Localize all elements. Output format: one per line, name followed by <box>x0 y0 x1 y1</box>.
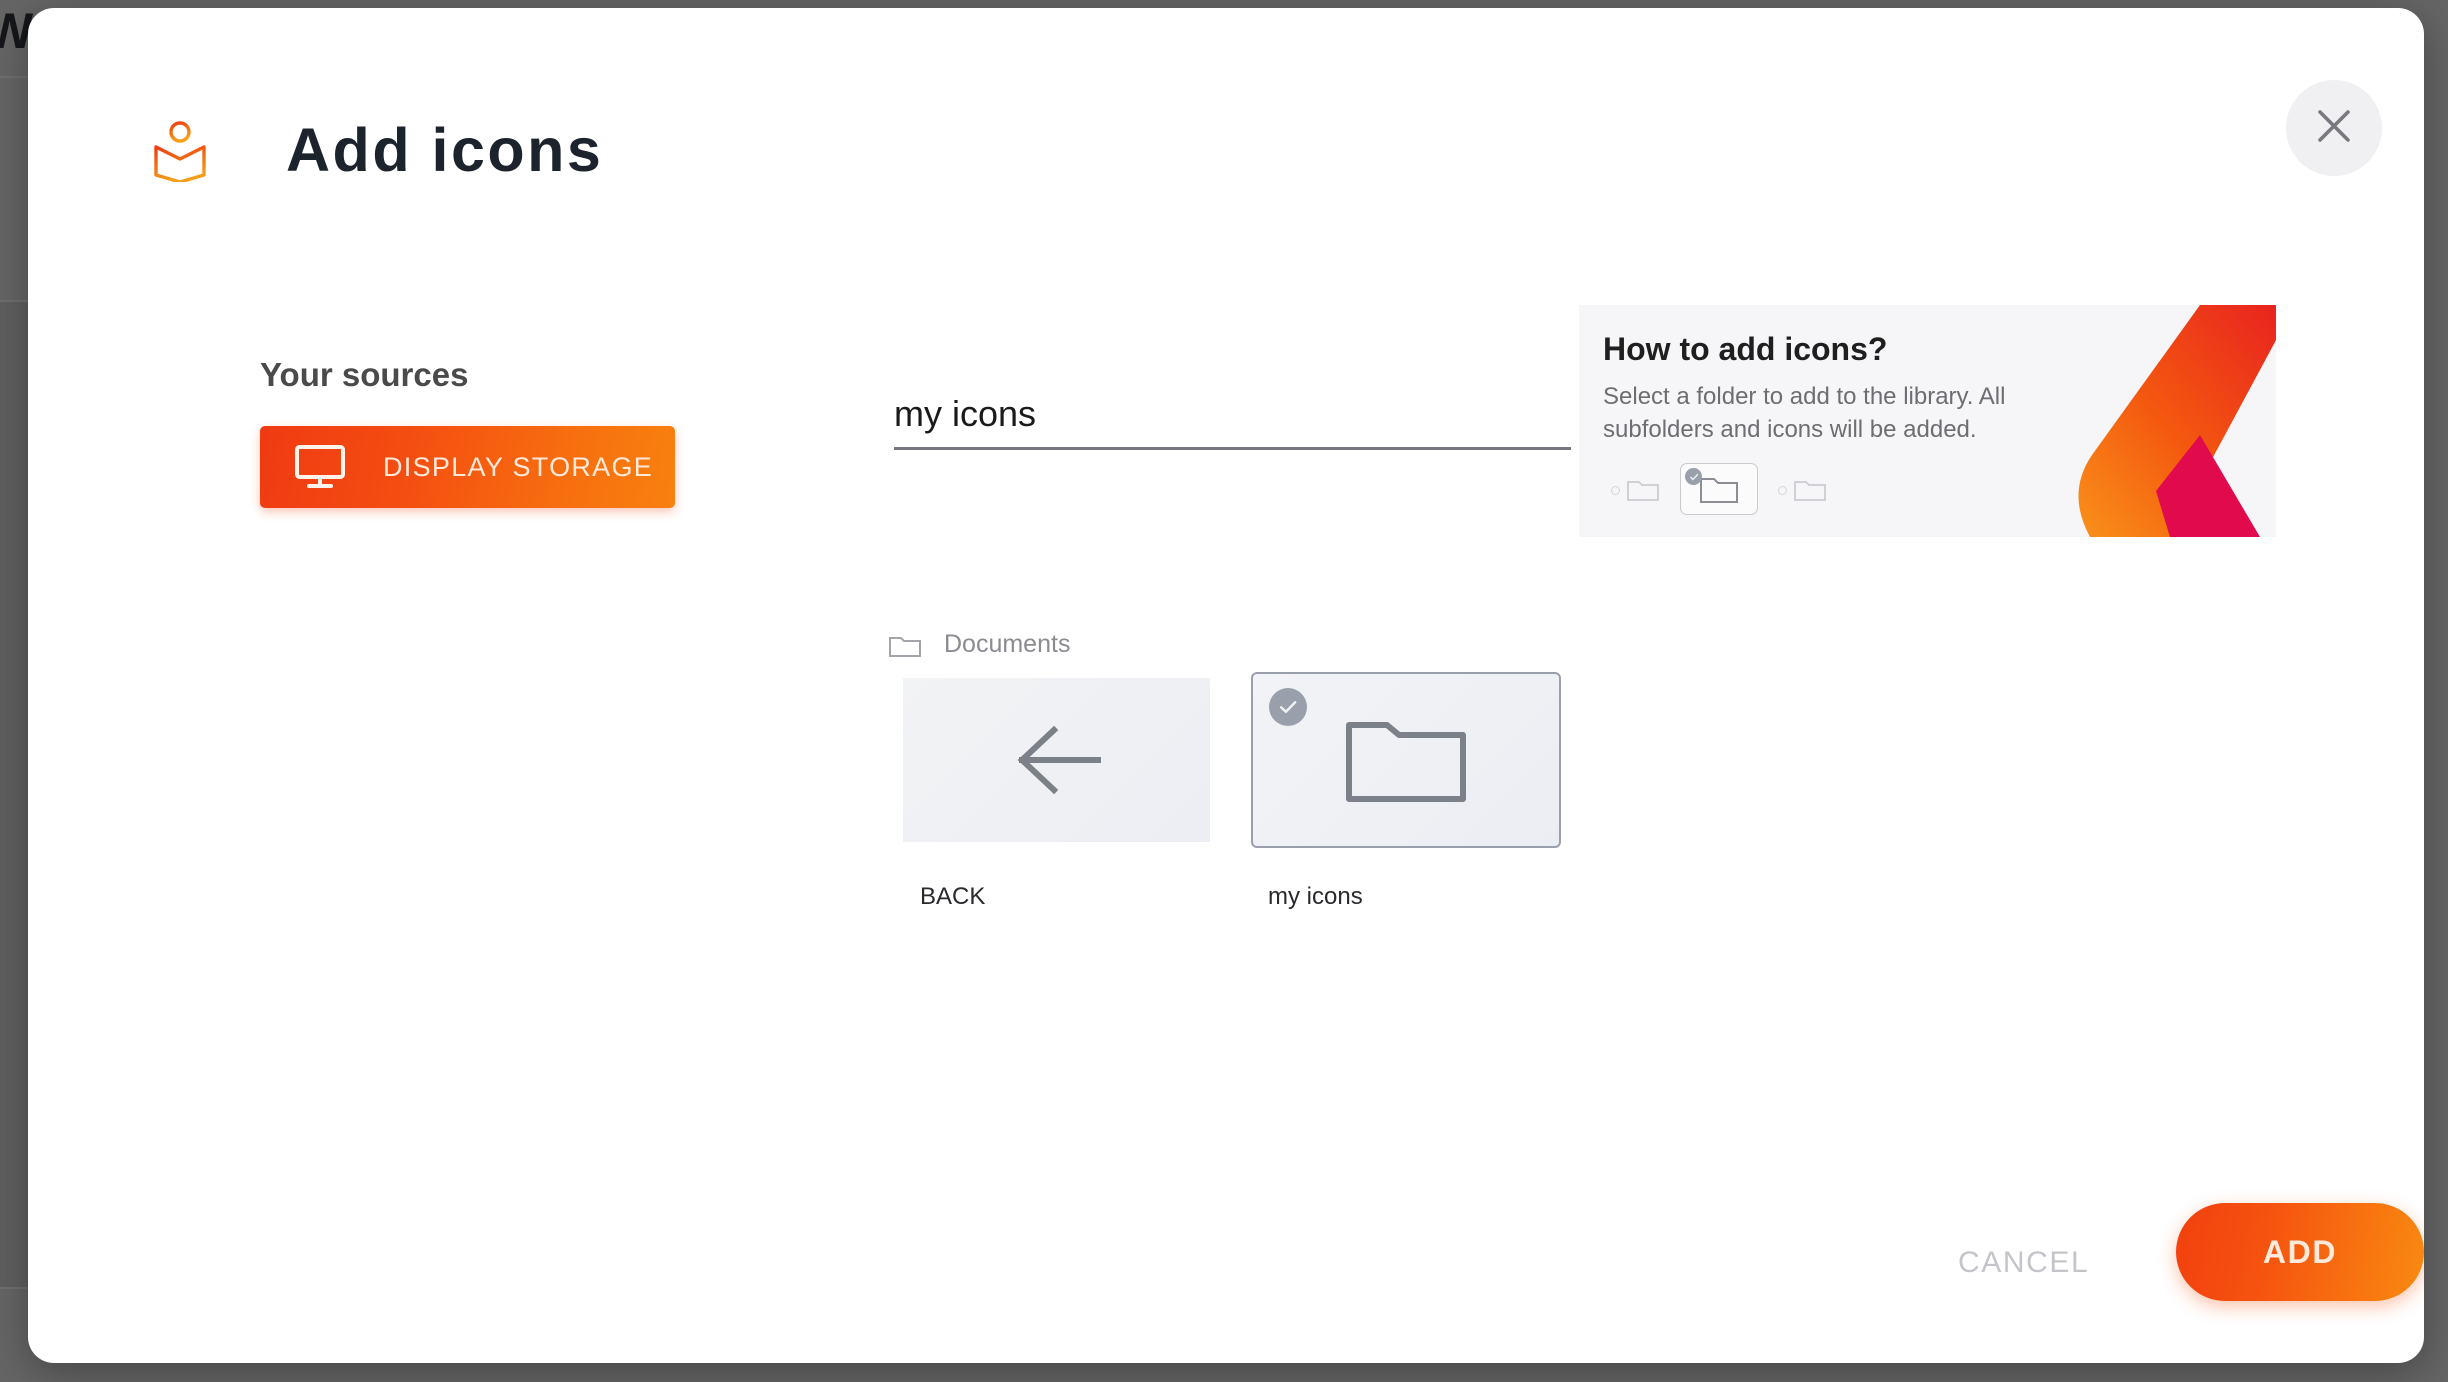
close-icon <box>2314 106 2354 151</box>
tile-back-label: BACK <box>920 883 985 911</box>
add-button[interactable]: ADD <box>2176 1203 2424 1301</box>
tile-folder-my-icons[interactable] <box>1251 672 1561 848</box>
monitor-icon <box>295 445 345 489</box>
how-to-thumbnails <box>1611 463 1827 515</box>
folder-icon <box>1793 476 1827 502</box>
book-reader-icon <box>150 120 210 182</box>
arrow-left-icon <box>1010 720 1104 800</box>
tile-back-thumb <box>903 678 1210 842</box>
folder-icon <box>1626 476 1660 502</box>
how-to-title: How to add icons? <box>1603 331 1887 368</box>
check-icon <box>1685 468 1702 485</box>
background-divider-bottom <box>0 1287 28 1289</box>
radio-icon <box>1611 486 1620 495</box>
add-icons-dialog: Add icons Your sources DISPLAY STORAGE H… <box>28 8 2424 1363</box>
breadcrumb[interactable]: Documents <box>888 630 1070 659</box>
cancel-button[interactable]: CANCEL <box>1958 1246 2089 1280</box>
background-panel <box>0 302 28 1287</box>
folder-name-underline <box>894 447 1571 450</box>
sidebar-item-display-storage[interactable]: DISPLAY STORAGE <box>260 426 675 508</box>
thumb-unselected-right <box>1778 476 1827 502</box>
page-title: Add icons <box>286 120 603 181</box>
how-to-panel: How to add icons? Select a folder to add… <box>1579 305 2276 537</box>
how-to-body: Select a folder to add to the library. A… <box>1603 381 2023 446</box>
thumb-unselected-left <box>1611 476 1660 502</box>
tile-folder-thumb <box>1251 672 1561 848</box>
thumb-selected-center <box>1680 463 1758 515</box>
folder-name-field-wrapper <box>894 393 1571 450</box>
sources-heading: Your sources <box>260 356 468 394</box>
ribbon-check-graphic <box>2052 305 2276 537</box>
background-divider-mid <box>0 300 28 302</box>
sidebar-item-label: DISPLAY STORAGE <box>383 452 653 483</box>
close-button[interactable] <box>2286 80 2382 176</box>
folder-icon <box>888 632 922 658</box>
tile-back[interactable] <box>903 678 1210 842</box>
radio-icon <box>1778 486 1787 495</box>
tile-folder-label: my icons <box>1268 883 1363 911</box>
folder-name-input[interactable] <box>894 393 1571 447</box>
breadcrumb-label: Documents <box>944 630 1070 659</box>
check-icon <box>1269 688 1307 726</box>
folder-icon <box>1345 717 1467 803</box>
folder-icon <box>1699 474 1739 504</box>
